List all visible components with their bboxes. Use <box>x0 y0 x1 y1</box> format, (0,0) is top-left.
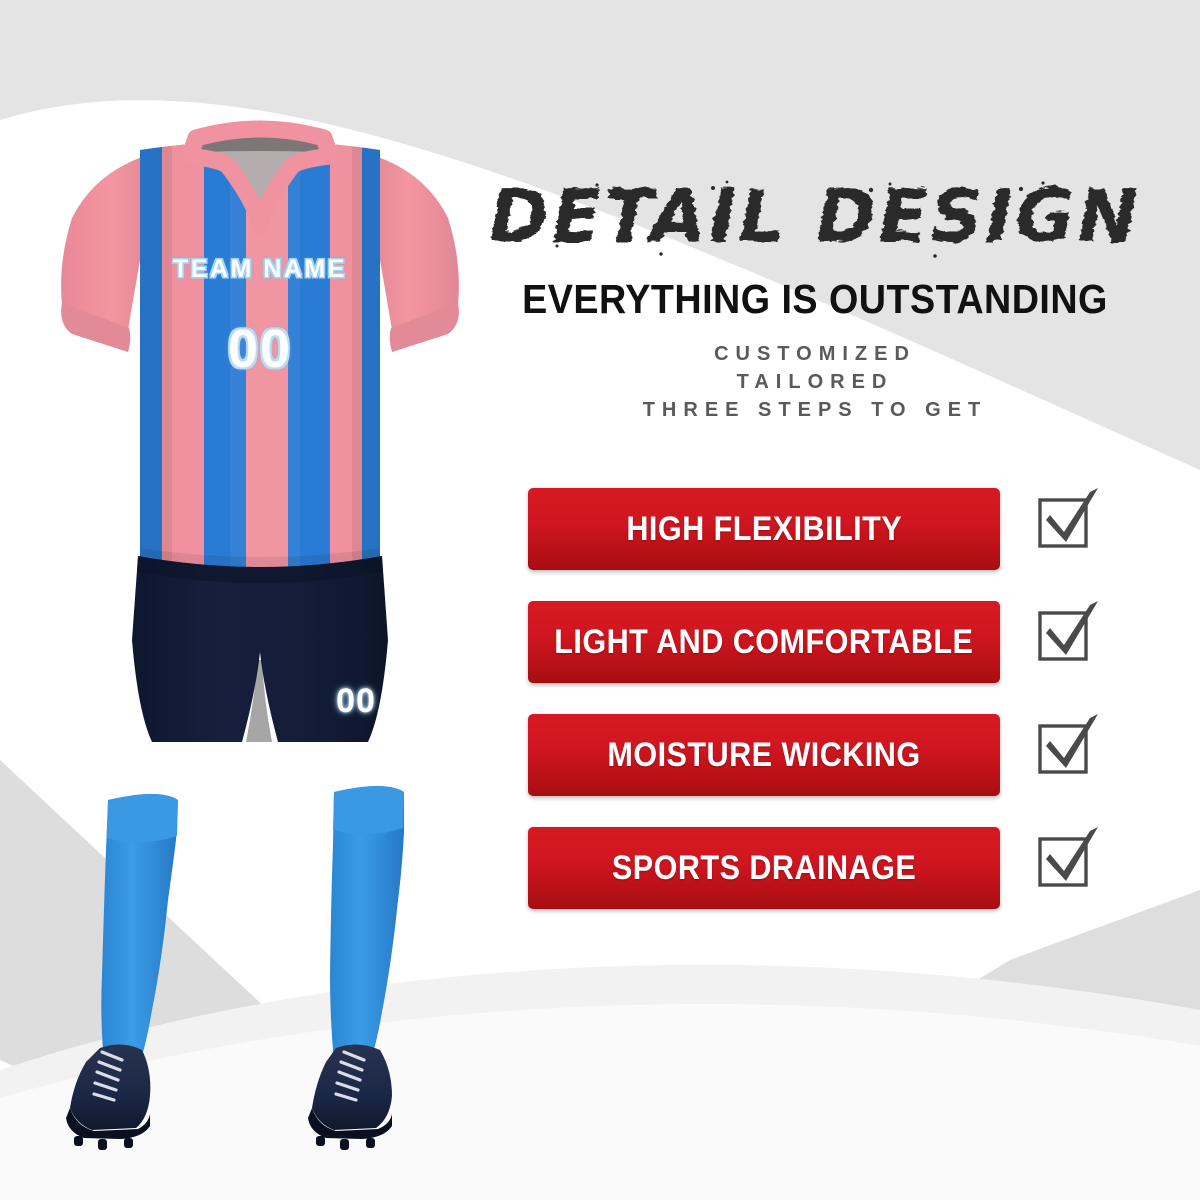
check-box-icon[interactable] <box>1030 827 1102 909</box>
headline-container: DETAIL DESIGN <box>430 170 1200 265</box>
tagline-tailored: TAILORED <box>430 368 1200 396</box>
feature-banner-moisture-wicking[interactable]: MOISTURE WICKING <box>528 714 1000 796</box>
tagline-list: CUSTOMIZED TAILORED THREE STEPS TO GET <box>430 340 1200 424</box>
feature-label: SPORTS DRAINAGE <box>612 849 916 888</box>
feature-label: LIGHT AND COMFORTABLE <box>554 623 973 662</box>
socks <box>101 786 404 1062</box>
sock-left-cuff <box>107 794 178 843</box>
check-box-icon[interactable] <box>1030 488 1102 570</box>
feature-list: HIGH FLEXIBILITY LIGHT AND COMFORTABLE <box>430 488 1200 940</box>
feature-row: MOISTURE WICKING <box>430 714 1200 827</box>
tagline-three-steps: THREE STEPS TO GET <box>430 396 1200 424</box>
feature-row: SPORTS DRAINAGE <box>430 827 1200 940</box>
feature-row: HIGH FLEXIBILITY <box>430 488 1200 601</box>
feature-banner-high-flexibility[interactable]: HIGH FLEXIBILITY <box>528 488 1000 570</box>
marketing-panel: DETAIL DESIGN EVERYTHING IS OUTSTANDING … <box>430 0 1200 1200</box>
feature-label: MOISTURE WICKING <box>607 736 920 775</box>
sock-right-cuff <box>333 786 404 835</box>
check-box-icon[interactable] <box>1030 601 1102 683</box>
subheadline: EVERYTHING IS OUTSTANDING <box>461 276 1169 323</box>
feature-row: LIGHT AND COMFORTABLE <box>430 601 1200 714</box>
feature-label: HIGH FLEXIBILITY <box>626 510 902 549</box>
feature-banner-light-and-comfortable[interactable]: LIGHT AND COMFORTABLE <box>528 601 1000 683</box>
tagline-customized: CUSTOMIZED <box>430 340 1200 368</box>
headline-brush-text: DETAIL DESIGN <box>465 170 1165 265</box>
feature-banner-sports-drainage[interactable]: SPORTS DRAINAGE <box>528 827 1000 909</box>
headline-text: DETAIL DESIGN <box>489 174 1141 260</box>
cleats <box>66 1044 392 1150</box>
jersey-sleeve-left <box>61 155 152 330</box>
shorts <box>132 556 388 742</box>
jersey <box>61 120 459 590</box>
check-box-icon[interactable] <box>1030 714 1102 796</box>
